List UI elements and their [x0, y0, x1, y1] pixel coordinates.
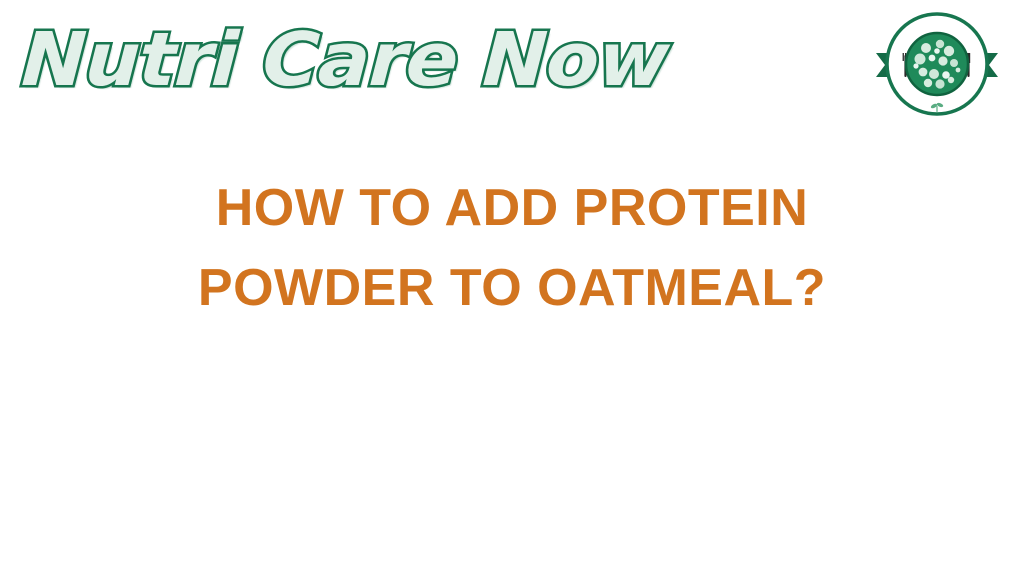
brand-logo: [874, 6, 1000, 124]
page-title: HOW TO ADD PROTEIN POWDER TO OATMEAL?: [0, 168, 1024, 328]
food-bowl-icon: [906, 33, 968, 95]
poster-canvas: Nutri Care Now HOW TO ADD PROTEIN POWDER…: [0, 0, 1024, 576]
brand-wordmark: Nutri Care Now: [19, 12, 669, 108]
headline-line-2: POWDER TO OATMEAL?: [0, 248, 1024, 328]
headline-line-1: HOW TO ADD PROTEIN: [0, 168, 1024, 248]
